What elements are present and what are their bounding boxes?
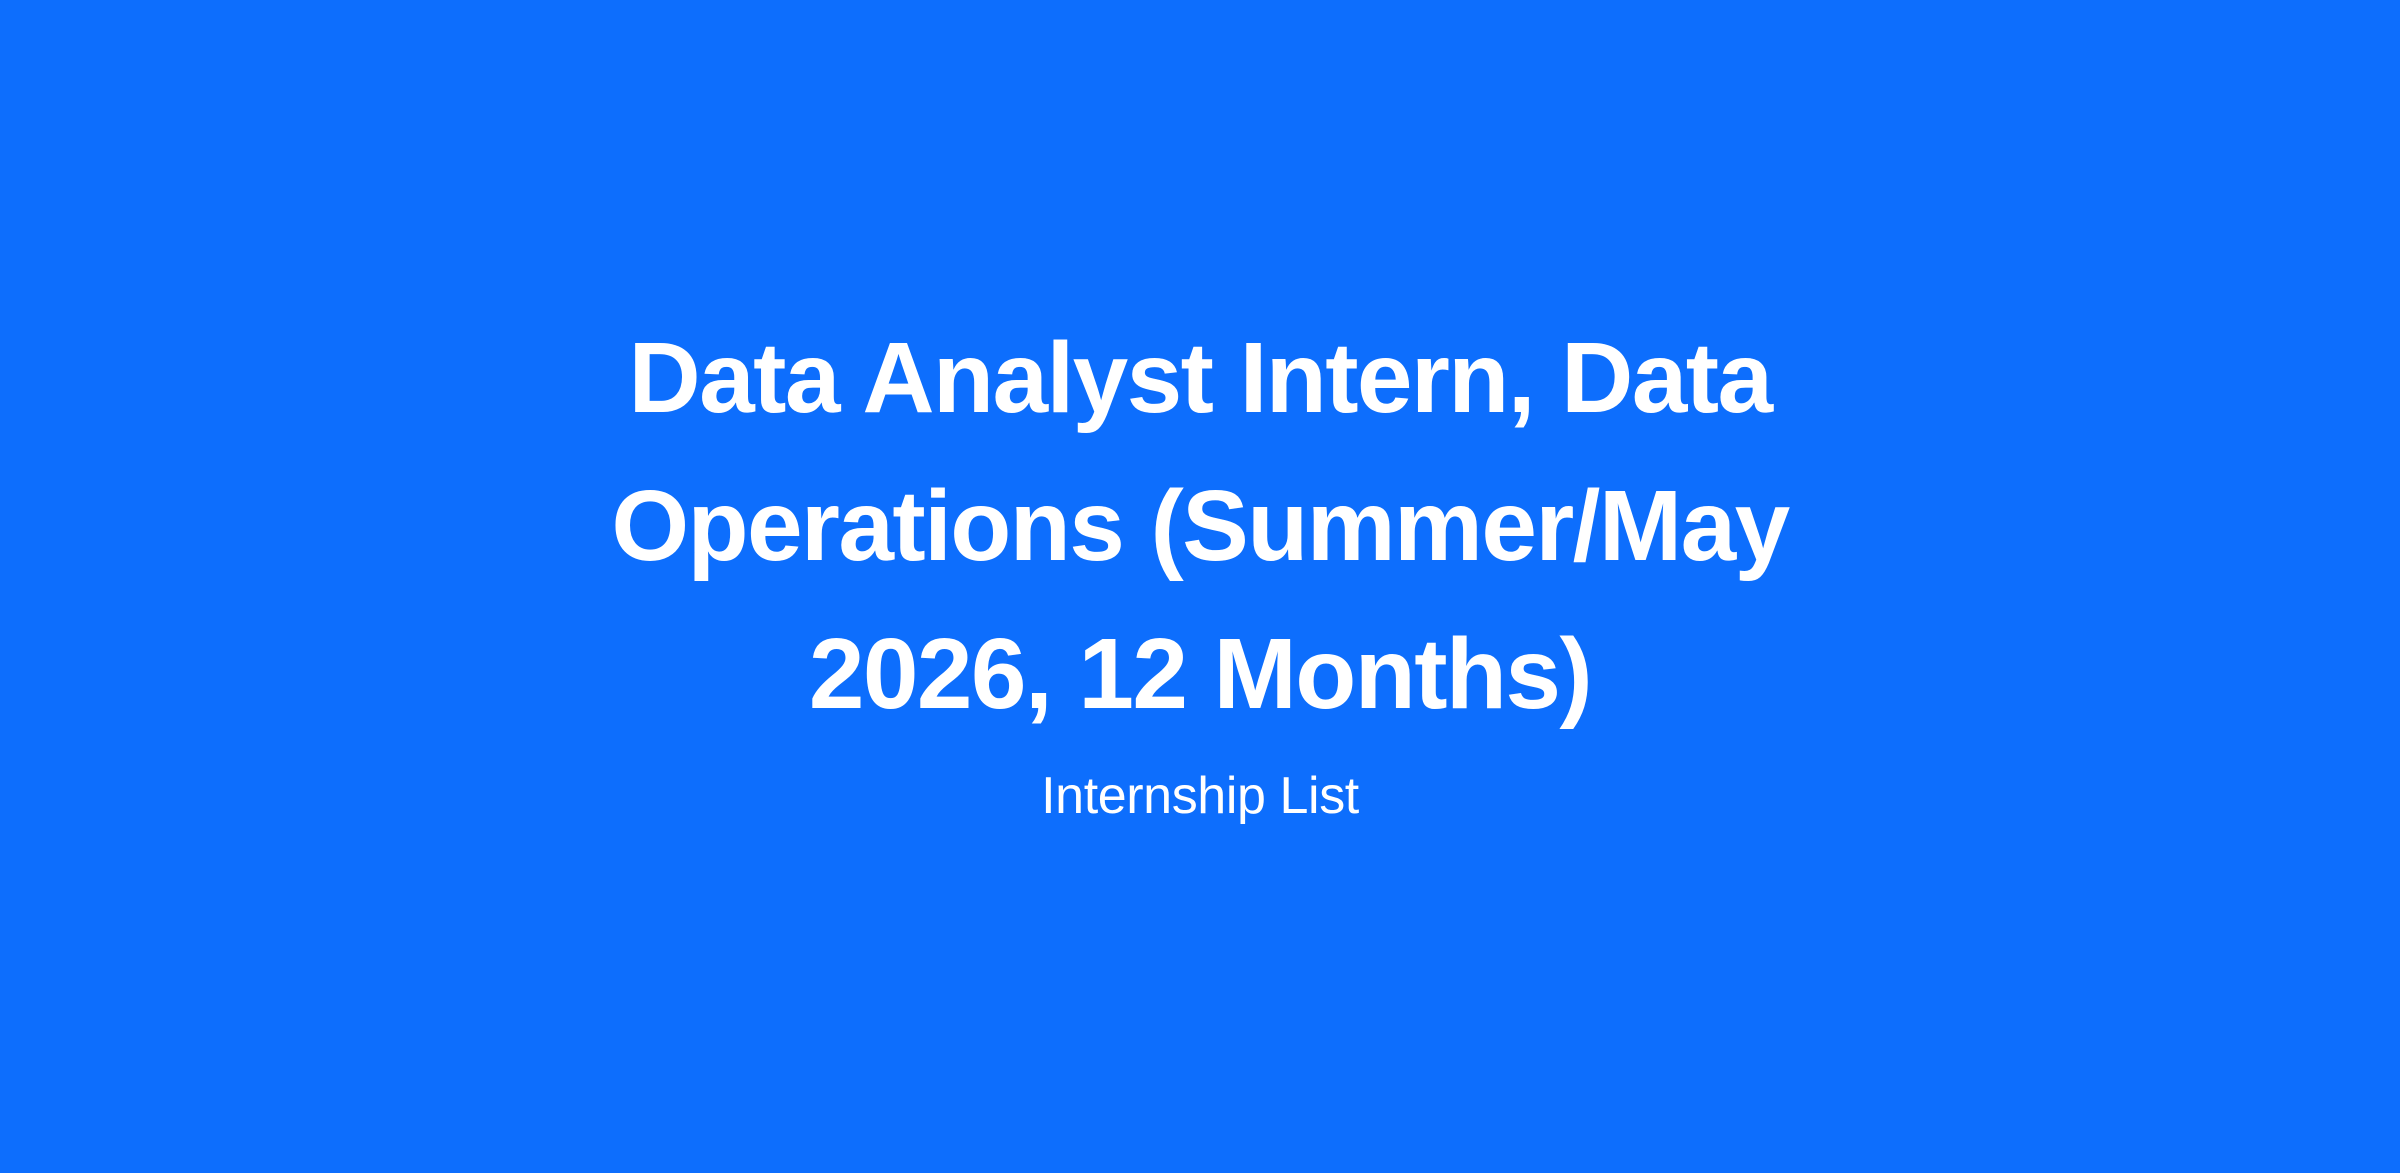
page-subtitle: Internship List [500, 762, 1900, 830]
internship-hero-card: Data Analyst Intern, Data Operations (Su… [0, 0, 2400, 1173]
hero-text-block: Data Analyst Intern, Data Operations (Su… [500, 304, 1900, 830]
page-title: Data Analyst Intern, Data Operations (Su… [500, 304, 1900, 748]
